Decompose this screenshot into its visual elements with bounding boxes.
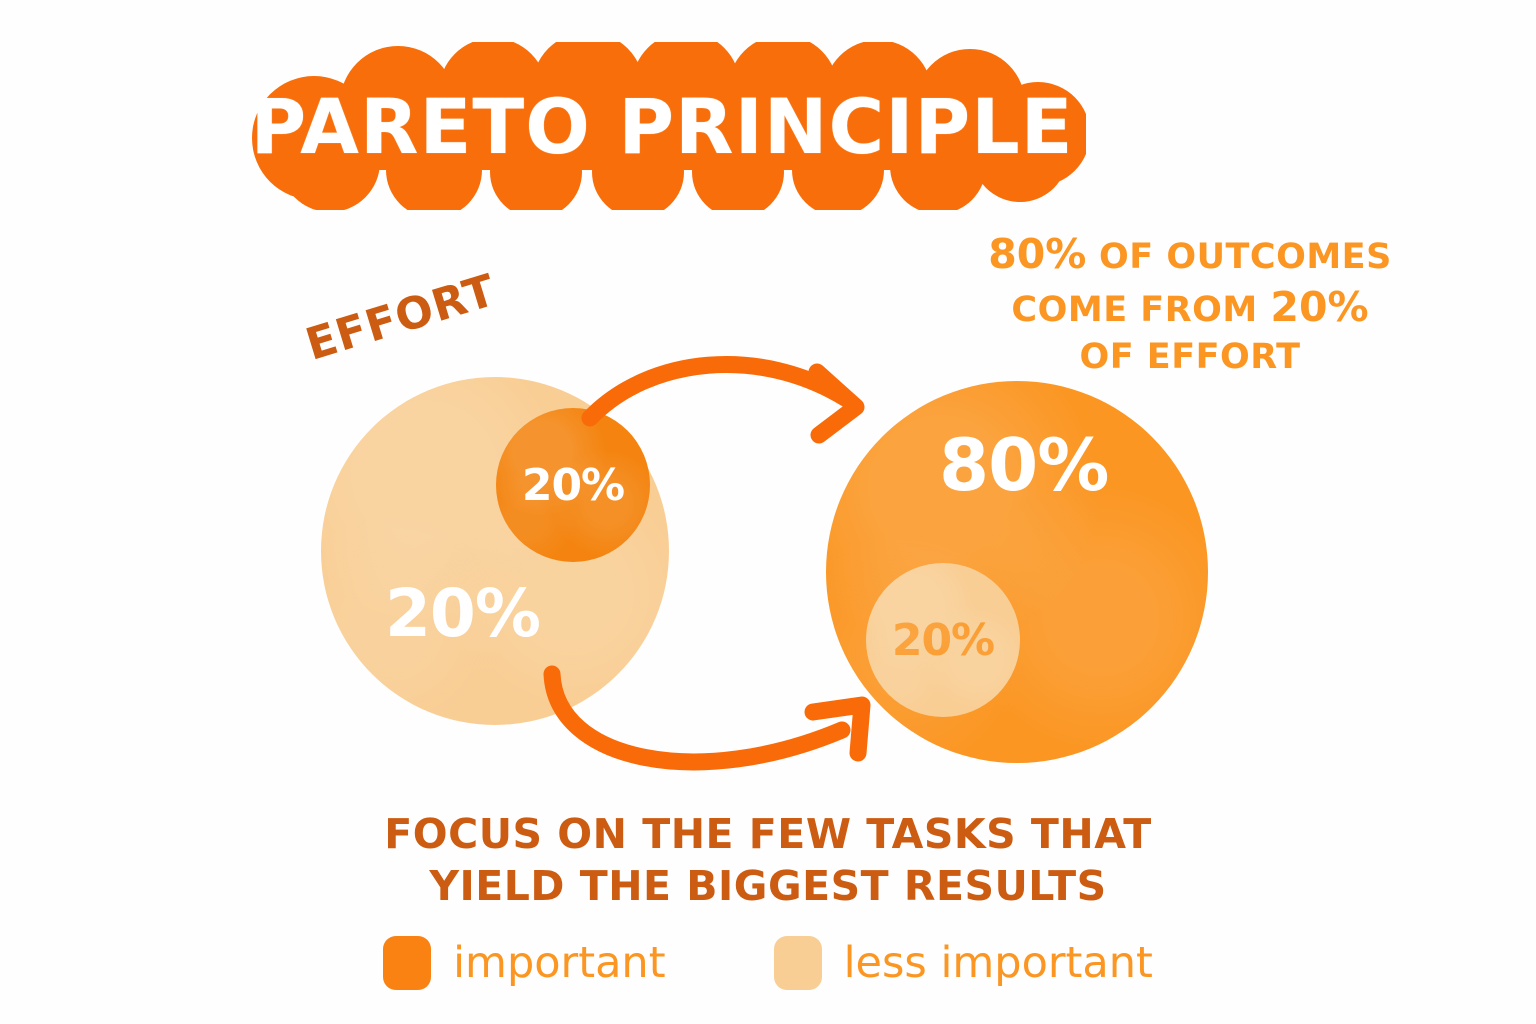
caption-line-1: FOCUS ON THE FEW TASKS THAT xyxy=(268,808,1268,860)
legend: important less important xyxy=(268,936,1268,990)
outcome-less-important-circle: 20% xyxy=(866,563,1020,717)
headline-line-1-rest: OF OUTCOMES xyxy=(1086,237,1391,277)
headline-value-20: 20% xyxy=(1270,283,1368,331)
caption-line-2: YIELD THE BIGGEST RESULTS xyxy=(268,860,1268,912)
title-banner: PARETO PRINCIPLE xyxy=(238,42,1086,210)
outcome-less-important-label: 20% xyxy=(892,615,994,666)
legend-label-important: important xyxy=(453,938,665,988)
effort-important-label: 20% xyxy=(522,460,624,511)
legend-swatch-important xyxy=(383,936,431,990)
headline-line-2: COME FROM 20% xyxy=(955,281,1425,334)
effort-important-circle: 20% xyxy=(496,408,650,562)
caption: FOCUS ON THE FEW TASKS THAT YIELD THE BI… xyxy=(268,808,1268,913)
headline-value-80: 80% xyxy=(988,230,1086,278)
page-title: PARETO PRINCIPLE xyxy=(238,42,1086,210)
legend-label-less-important: less important xyxy=(844,938,1153,988)
arrow-top-curve xyxy=(590,365,845,418)
legend-item-less-important: less important xyxy=(774,936,1153,990)
outcome-circle: 80% xyxy=(826,381,1208,763)
effort-circle-label: 20% xyxy=(385,575,540,652)
infographic-canvas: PARETO PRINCIPLE 80% OF OUTCOMES COME FR… xyxy=(0,0,1536,1024)
headline-line-3: OF EFFORT xyxy=(955,335,1425,381)
outcome-circle-label: 80% xyxy=(939,423,1108,507)
legend-swatch-less-important xyxy=(774,936,822,990)
headline-line-1: 80% OF OUTCOMES xyxy=(955,228,1425,281)
headline-line-2-pre: COME FROM xyxy=(1011,290,1270,330)
arrow-top-head xyxy=(817,372,856,435)
headline-statement: 80% OF OUTCOMES COME FROM 20% OF EFFORT xyxy=(955,228,1425,380)
arrow-bottom-head xyxy=(813,705,862,753)
legend-item-important: important xyxy=(383,936,665,990)
effort-label: EFFORT xyxy=(300,265,502,371)
